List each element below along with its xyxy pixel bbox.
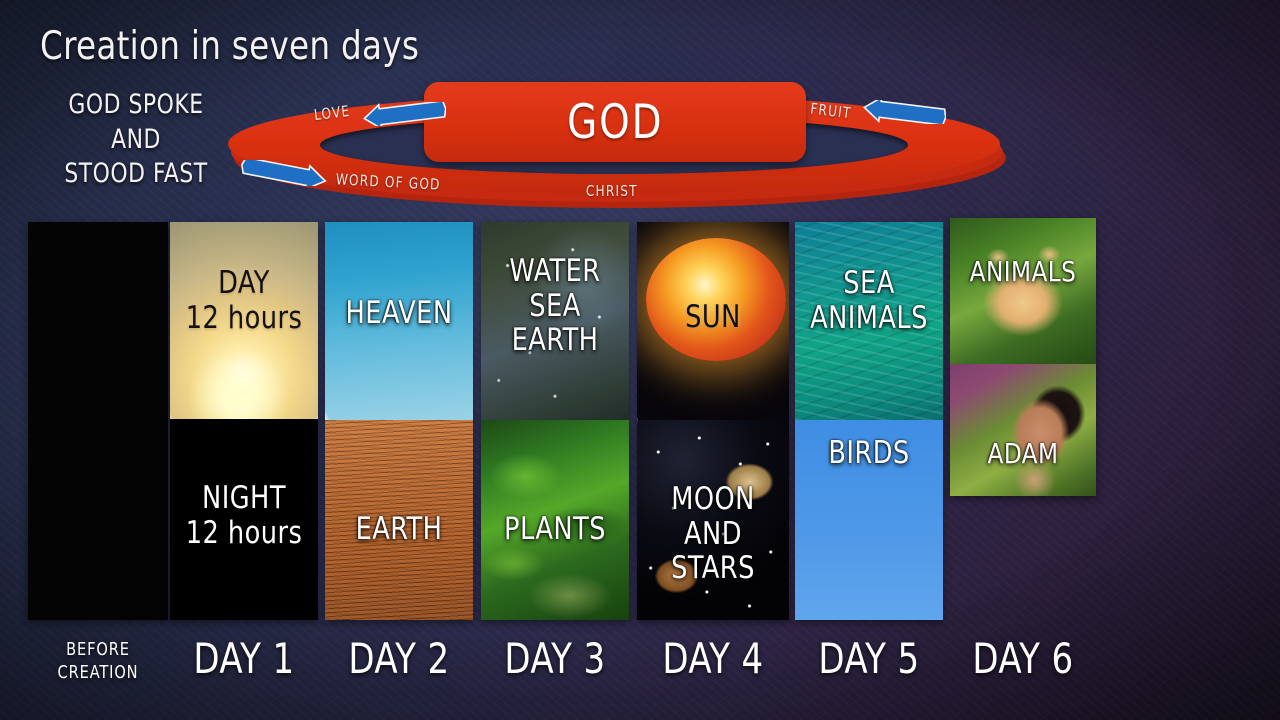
caption-line: BIRDS	[801, 436, 937, 471]
column-day-4[interactable]: SUNMOONANDSTARS	[637, 222, 789, 620]
fruit-arrow-icon	[858, 100, 946, 129]
day-label-text: DAY 6	[957, 634, 1088, 683]
panel-sea-animals[interactable]: SEAANIMALS	[795, 222, 943, 420]
day-label-day-1: DAY 1	[170, 634, 318, 683]
caption-line: AND	[643, 517, 783, 552]
god-banner[interactable]: GOD	[424, 82, 806, 162]
day-label-day-3: DAY 3	[481, 634, 629, 683]
plants-caption: PLANTS	[481, 512, 629, 547]
caption-line: STARS	[643, 551, 783, 586]
love-arrow-icon	[358, 102, 446, 131]
day-label-line: BEFORE	[35, 638, 161, 661]
day-light-caption: DAY12 hours	[170, 266, 318, 335]
word-of-god-arrow-icon	[238, 160, 330, 191]
animals-caption: ANIMALS	[950, 256, 1096, 287]
darkness-image	[28, 222, 168, 620]
day-label-text: DAY 3	[488, 634, 621, 683]
caption-line: NIGHT	[176, 481, 312, 516]
god-banner-label: GOD	[567, 95, 663, 150]
sun-caption: SUN	[637, 300, 789, 335]
label-christ: CHRIST	[586, 182, 638, 200]
day-label-day-2: DAY 2	[325, 634, 473, 683]
day-label-text: DAY 2	[332, 634, 465, 683]
column-day-1[interactable]: DAY12 hoursNIGHT12 hours	[170, 222, 318, 620]
day-label-before-creation: BEFORECREATION	[28, 638, 168, 685]
day-label-day-4: DAY 4	[637, 634, 789, 683]
panel-heaven-sky[interactable]: HEAVEN	[325, 222, 473, 420]
caption-line: SUN	[643, 300, 783, 335]
panel-earth-soil[interactable]: EARTH	[325, 420, 473, 620]
column-day-5[interactable]: SEAANIMALSBIRDS	[795, 222, 943, 620]
panel-moon-and-stars[interactable]: MOONANDSTARS	[637, 420, 789, 620]
sea-animals-caption: SEAANIMALS	[795, 266, 943, 335]
water-sea-earth-caption: WATERSEAEARTH	[481, 254, 629, 358]
caption-line: ADAM	[956, 438, 1090, 469]
caption-line: SEA	[801, 266, 937, 301]
panel-water-sea-earth[interactable]: WATERSEAEARTH	[481, 222, 629, 420]
moon-and-stars-caption: MOONANDSTARS	[637, 482, 789, 586]
panel-plants[interactable]: PLANTS	[481, 420, 629, 620]
caption-line: MOON	[643, 482, 783, 517]
page-title: Creation in seven days	[40, 24, 419, 69]
caption-line: HEAVEN	[331, 296, 467, 331]
subtitle-line-2: AND	[53, 123, 219, 158]
caption-line: 12 hours	[176, 516, 312, 551]
panel-sun[interactable]: SUN	[637, 222, 789, 420]
column-day-2[interactable]: HEAVENEARTH	[325, 222, 473, 620]
column-day-3[interactable]: WATERSEAEARTHPLANTS	[481, 222, 629, 620]
adam-caption: ADAM	[950, 438, 1096, 469]
panel-animals[interactable]: ANIMALS	[950, 218, 1096, 364]
caption-line: EARTH	[331, 512, 467, 547]
heaven-sky-caption: HEAVEN	[325, 296, 473, 331]
caption-line: DAY	[176, 266, 312, 301]
panel-darkness[interactable]	[28, 222, 168, 620]
caption-line: ANIMALS	[956, 256, 1090, 287]
panel-day-light[interactable]: DAY12 hours	[170, 222, 318, 419]
day-label-text: DAY 4	[645, 634, 782, 683]
caption-line: 12 hours	[176, 301, 312, 336]
panel-adam[interactable]: ADAM	[950, 364, 1096, 496]
caption-line: WATER	[487, 254, 623, 289]
day-label-text: DAY 1	[177, 634, 310, 683]
slide-canvas: Creation in seven days GOD SPOKE AND STO…	[0, 0, 1280, 720]
earth-soil-caption: EARTH	[325, 512, 473, 547]
caption-line: SEA	[487, 289, 623, 324]
column-day-6[interactable]: ANIMALSADAM	[950, 218, 1096, 496]
night-dark-caption: NIGHT12 hours	[170, 481, 318, 550]
column-before-creation[interactable]	[28, 222, 168, 620]
animals-image	[950, 218, 1096, 364]
panel-birds[interactable]: BIRDS	[795, 420, 943, 620]
caption-line: PLANTS	[487, 512, 623, 547]
caption-line: ANIMALS	[801, 301, 937, 336]
god-cycle-diagram: GOD LOVE FRUIT WORD OF GOD CHRIST	[228, 88, 1006, 210]
day-label-day-5: DAY 5	[795, 634, 943, 683]
day-label-line: CREATION	[35, 661, 161, 684]
subtitle-line-1: GOD SPOKE	[53, 88, 219, 123]
caption-line: EARTH	[487, 323, 623, 358]
panel-night-dark[interactable]: NIGHT12 hours	[170, 419, 318, 620]
birds-caption: BIRDS	[795, 436, 943, 471]
subtitle-line-3: STOOD FAST	[53, 157, 219, 192]
day-label-day-6: DAY 6	[950, 634, 1096, 683]
adam-image	[950, 364, 1096, 496]
day-label-text: DAY 5	[802, 634, 935, 683]
subtitle-block: GOD SPOKE AND STOOD FAST	[44, 88, 228, 192]
